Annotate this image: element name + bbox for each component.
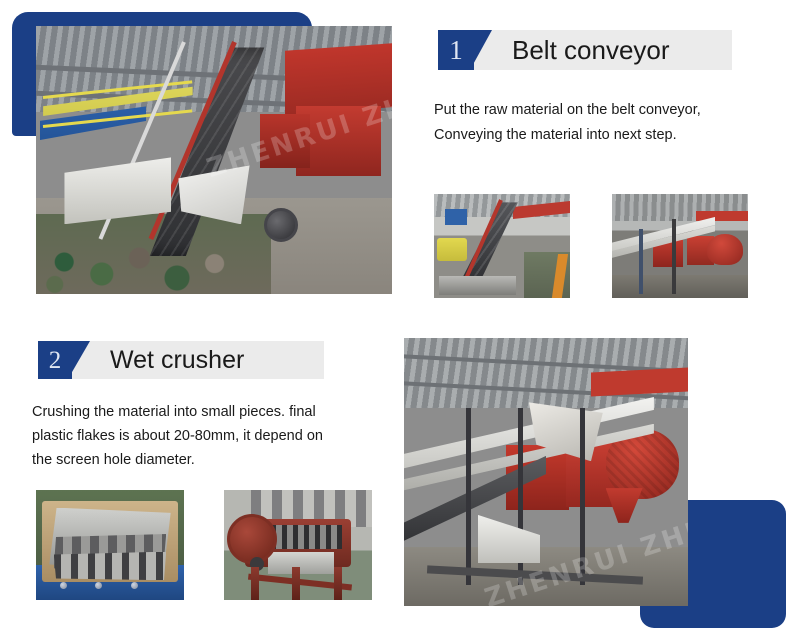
photo-red-machine bbox=[260, 114, 310, 168]
step-1-description-line: Put the raw material on the belt conveyo… bbox=[434, 98, 784, 123]
step-1-title: Belt conveyor bbox=[512, 35, 670, 66]
step-1-thumbnail-1 bbox=[434, 194, 570, 298]
step-1-description-line: Conveying the material into next step. bbox=[434, 123, 784, 148]
photo-stand-leg bbox=[334, 567, 342, 600]
step-1-header: 1 Belt conveyor bbox=[438, 30, 732, 70]
step-2-thumbnail-1 bbox=[36, 490, 184, 600]
step-2-description-line: the screen hole diameter. bbox=[32, 448, 384, 472]
photo-stand-leg bbox=[251, 567, 259, 600]
step-2-header: 2 Wet crusher bbox=[38, 341, 324, 379]
step-2-number-badge: 2 bbox=[38, 341, 72, 379]
step-1-title-strip: Belt conveyor bbox=[474, 30, 732, 70]
step-2-description-line: Crushing the material into small pieces.… bbox=[32, 400, 384, 424]
step-1-main-photo: ZHENRUI ZHENRUI bbox=[36, 26, 392, 294]
photo-drum-pulley bbox=[264, 208, 298, 242]
step-1-thumbnail-2 bbox=[612, 194, 748, 298]
step-1-description: Put the raw material on the belt conveyo… bbox=[434, 98, 784, 148]
step-2-main-photo: ZHENRUI ZHENRUI bbox=[404, 338, 688, 606]
photo-crusher-blades bbox=[54, 552, 166, 581]
photo-bolt bbox=[131, 582, 138, 589]
photo-bolt bbox=[60, 582, 67, 589]
step-2-title: Wet crusher bbox=[110, 346, 244, 375]
photo-support-post bbox=[672, 219, 676, 294]
photo-blue-machine bbox=[445, 209, 467, 226]
photo-red-stripe bbox=[696, 211, 748, 221]
photo-yellow-machine bbox=[437, 238, 467, 261]
step-2-description-line: plastic flakes is about 20-80mm, it depe… bbox=[32, 424, 384, 448]
photo-red-wall bbox=[285, 44, 392, 116]
step-2-thumbnail-2 bbox=[224, 490, 372, 600]
step-2-description: Crushing the material into small pieces.… bbox=[32, 400, 384, 472]
photo-white-wedge-support bbox=[478, 515, 540, 563]
step-1-number-badge: 1 bbox=[438, 30, 474, 70]
photo-floor bbox=[612, 275, 748, 298]
photo-stand-leg bbox=[292, 567, 300, 600]
product-process-infographic: ZHENRUI ZHENRUI 1 Belt conveyor Put the … bbox=[0, 0, 800, 642]
photo-conveyor-base bbox=[439, 276, 515, 295]
photo-support-post bbox=[639, 229, 643, 293]
photo-crusher-window bbox=[268, 552, 333, 574]
step-2-title-strip: Wet crusher bbox=[72, 341, 324, 379]
photo-support-post bbox=[466, 408, 471, 585]
photo-flywheel bbox=[227, 514, 277, 564]
photo-support-post bbox=[580, 408, 585, 585]
photo-red-cyclone bbox=[707, 234, 742, 265]
